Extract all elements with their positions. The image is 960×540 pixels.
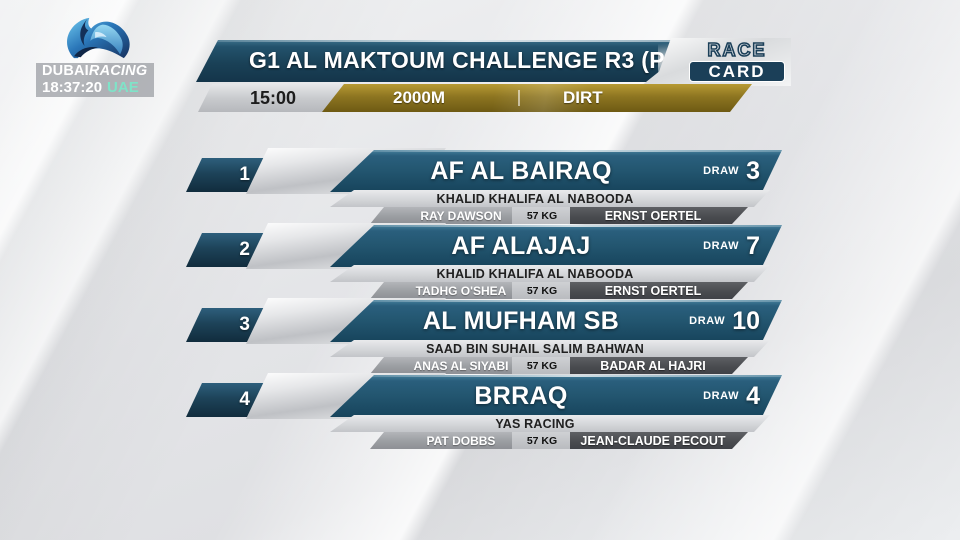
race-distance: 2000M: [393, 84, 445, 112]
weight-cell: 57 KG: [512, 207, 572, 224]
trainer-name: JEAN-CLAUDE PECOUT: [580, 434, 737, 448]
draw-group: DRAW 7: [703, 225, 760, 267]
race-header: G1 AL MAKTOUM CHALLENGE R3 (PA) RACE CAR…: [158, 40, 790, 124]
runner-row[interactable]: 4 BRRAQ DRAW 4 YAS RACING PAT DOBBS 57 K…: [0, 373, 960, 448]
horse-head-icon: [36, 16, 158, 62]
trainer-name: ERNST OERTEL: [605, 209, 714, 223]
horse-name-band: AL MUFHAM SB DRAW 10: [330, 300, 782, 342]
weight-cell: 57 KG: [512, 282, 572, 299]
race-card-line2: CARD: [689, 61, 785, 82]
saddle-number: 2: [239, 233, 250, 267]
draw-label: DRAW: [689, 315, 725, 327]
race-surface: DIRT: [563, 84, 603, 112]
owner-name: KHALID KHALIFA AL NABOODA: [360, 190, 710, 207]
horse-name: BRRAQ: [390, 375, 652, 417]
runner-row[interactable]: 3 AL MUFHAM SB DRAW 10 SAAD BIN SUHAIL S…: [0, 298, 960, 373]
jockey-trainer-bar: ANAS AL SIYABI 57 KG BADAR AL HAJRI: [370, 357, 740, 374]
draw-group: DRAW 3: [703, 150, 760, 192]
weight-value: 57 KG: [527, 285, 557, 297]
race-card-inner: RACE CARD: [689, 41, 785, 82]
draw-label: DRAW: [703, 165, 739, 177]
horse-name-band: AF ALAJAJ DRAW 7: [330, 225, 782, 267]
owner-bar: KHALID KHALIFA AL NABOODA: [330, 190, 770, 207]
jockey-name: PAT DOBBS: [417, 434, 496, 448]
race-card-line1: RACE: [689, 41, 785, 60]
brand-dubai: DUBAI: [42, 63, 89, 79]
race-post-time: 15:00: [250, 84, 296, 112]
draw-group: DRAW 10: [689, 300, 760, 342]
trainer-cell: ERNST OERTEL: [570, 282, 748, 299]
horse-name-band: BRRAQ DRAW 4: [330, 375, 782, 417]
weight-value: 57 KG: [527, 360, 557, 372]
horse-name: AL MUFHAM SB: [390, 300, 652, 342]
jockey-name: ANAS AL SIYABI: [404, 359, 509, 373]
draw-value: 3: [746, 157, 760, 186]
jockey-trainer-bar: PAT DOBBS 57 KG JEAN-CLAUDE PECOUT: [370, 432, 740, 449]
draw-value: 10: [732, 307, 760, 336]
jockey-trainer-bar: TADHG O'SHEA 57 KG ERNST OERTEL: [370, 282, 740, 299]
trainer-cell: JEAN-CLAUDE PECOUT: [570, 432, 748, 449]
draw-label: DRAW: [703, 390, 739, 402]
race-info-gold-panel: [322, 84, 752, 112]
clock-region: UAE: [107, 79, 139, 96]
draw-value: 7: [746, 232, 760, 261]
channel-logo-bug: DUBAIRACING 18:37:20UAE: [36, 16, 158, 97]
logo-text-block: DUBAIRACING 18:37:20UAE: [36, 63, 154, 97]
weight-value: 57 KG: [527, 435, 557, 447]
trainer-cell: BADAR AL HAJRI: [570, 357, 748, 374]
info-divider: [518, 90, 520, 106]
jockey-name: RAY DAWSON: [410, 209, 501, 223]
race-card-badge: RACE CARD: [681, 38, 791, 84]
clock-row: 18:37:20UAE: [36, 79, 154, 97]
horse-name: AF ALAJAJ: [390, 225, 652, 267]
horse-name: AF AL BAIRAQ: [390, 150, 652, 192]
jockey-trainer-bar: RAY DAWSON 57 KG ERNST OERTEL: [370, 207, 740, 224]
weight-cell: 57 KG: [512, 357, 572, 374]
saddle-number: 3: [239, 308, 250, 342]
horse-name-band: AF AL BAIRAQ DRAW 3: [330, 150, 782, 192]
owner-name: YAS RACING: [360, 415, 710, 432]
runner-row[interactable]: 1 AF AL BAIRAQ DRAW 3 KHALID KHALIFA AL …: [0, 148, 960, 223]
runner-row[interactable]: 2 AF ALAJAJ DRAW 7 KHALID KHALIFA AL NAB…: [0, 223, 960, 298]
race-info-strip: 15:00 2000M DIRT: [198, 84, 758, 112]
owner-bar: YAS RACING: [330, 415, 770, 432]
saddle-number: 4: [239, 383, 250, 417]
clock-time: 18:37:20: [42, 79, 102, 96]
runner-list: 1 AF AL BAIRAQ DRAW 3 KHALID KHALIFA AL …: [0, 148, 960, 448]
draw-label: DRAW: [703, 240, 739, 252]
jockey-name: TADHG O'SHEA: [406, 284, 507, 298]
saddle-number: 1: [239, 158, 250, 192]
draw-value: 4: [746, 382, 760, 411]
owner-name: SAAD BIN SUHAIL SALIM BAHWAN: [360, 340, 710, 357]
weight-cell: 57 KG: [512, 432, 572, 449]
brand-name: DUBAIRACING: [36, 63, 154, 79]
brand-racing: RACING: [89, 63, 147, 79]
owner-name: KHALID KHALIFA AL NABOODA: [360, 265, 710, 282]
owner-bar: SAAD BIN SUHAIL SALIM BAHWAN: [330, 340, 770, 357]
owner-bar: KHALID KHALIFA AL NABOODA: [330, 265, 770, 282]
draw-group: DRAW 4: [703, 375, 760, 417]
trainer-name: ERNST OERTEL: [605, 284, 714, 298]
trainer-name: BADAR AL HAJRI: [600, 359, 718, 373]
trainer-cell: ERNST OERTEL: [570, 207, 748, 224]
weight-value: 57 KG: [527, 210, 557, 222]
